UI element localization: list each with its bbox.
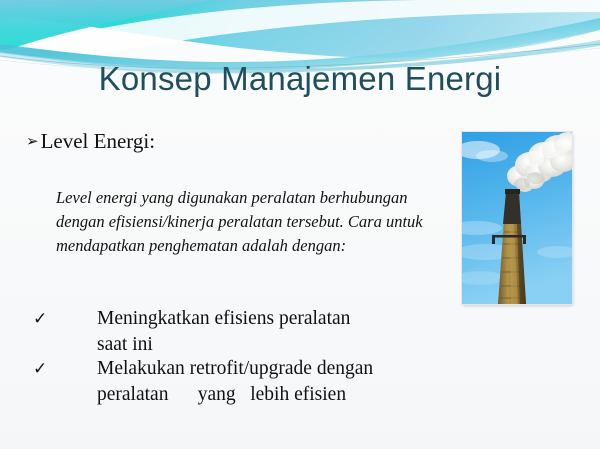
check-icon: ✓ <box>33 356 97 382</box>
arrow-bullet-icon: ➢ <box>26 130 39 152</box>
checklist-item-line1: Melakukan retrofit/upgrade dengan <box>97 358 373 379</box>
check-icon: ✓ <box>33 306 97 332</box>
level-energi-bullet: ➢ Level Energi: <box>26 130 155 152</box>
smokestack-photo <box>462 132 572 304</box>
checklist-item: ✓ Meningkatkan efisiens peralatan saat i… <box>33 306 457 358</box>
smokestack-illustration <box>462 132 572 304</box>
checklist-item-text: Melakukan retrofit/upgrade dengan perala… <box>97 356 457 408</box>
slide: Konsep Manajemen Energi ➢ Level Energi: … <box>0 0 600 449</box>
level-energi-label: Level Energi: <box>41 130 156 152</box>
checklist-item-line2: peralatan yang lebih efisien <box>97 382 457 408</box>
checklist-item-line1: Meningkatkan efisiens peralatan <box>97 308 350 329</box>
checklist-item-line2: saat ini <box>97 332 457 358</box>
description-paragraph: Level energi yang digunakan peralatan be… <box>56 186 456 258</box>
checklist-item: ✓ Melakukan retrofit/upgrade dengan pera… <box>33 356 457 408</box>
checklist-item-text: Meningkatkan efisiens peralatan saat ini <box>97 306 457 358</box>
